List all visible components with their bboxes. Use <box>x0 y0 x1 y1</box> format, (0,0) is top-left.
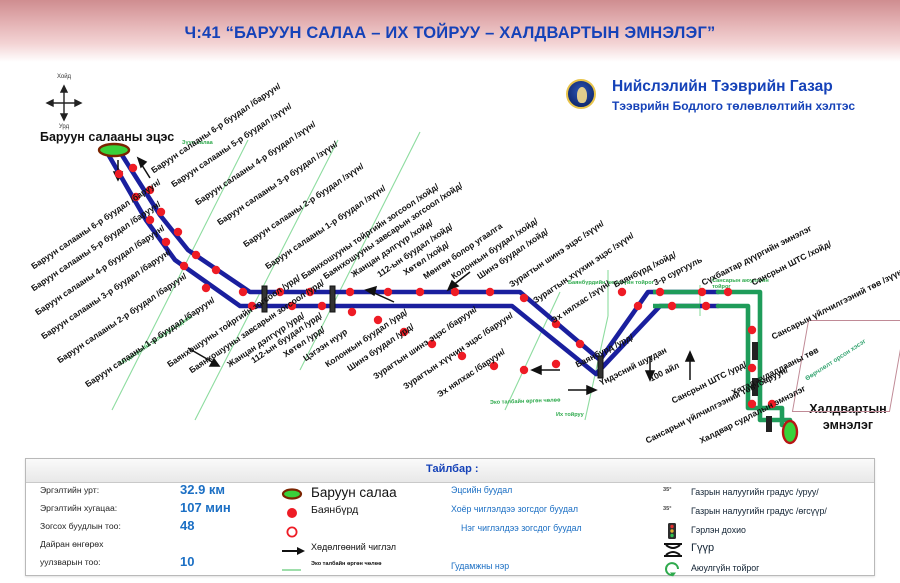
terminus-ellipse-icon <box>281 487 303 501</box>
stat-key: Эргэлтийн урт: <box>40 485 99 495</box>
arrow-icon <box>281 544 303 558</box>
stat-value: 48 <box>180 518 194 533</box>
legend-symbol-row <box>281 523 451 542</box>
legend-symbol-row: Хөдөлгөөний чиглэл <box>281 542 451 561</box>
stat-row: Эргэлтийн хугацаа: 107 мин <box>40 503 265 521</box>
legend-map-symbol-label: Гүүр <box>691 542 714 554</box>
stop-type-spacer <box>451 542 671 561</box>
stat-value: 107 мин <box>180 500 231 515</box>
stat-value: 10 <box>180 554 194 569</box>
terminus-end-label-line2: эмнэлэг <box>800 418 896 432</box>
legend-symbol-row: Баруун салаа <box>281 485 451 504</box>
legend-map-symbol-row: 35° Газрын налуугийн градус /өгсүүр/ <box>661 504 876 523</box>
legend-map-symbol-label: Аюулгүйн тойрог <box>691 563 759 573</box>
legend-map-symbol-row: Гэрлэн дохио <box>661 523 876 542</box>
legend-symbols-column: Баруун салаа Баянбүрд Хөдөлгөөний чиглэл <box>281 485 451 580</box>
legend-symbol-label: Эко талбайн өргөн чөлөө <box>311 561 382 567</box>
legend-map-symbol-row: Аюулгүйн тойрог <box>661 561 876 580</box>
stat-row: Дайран өнгөрөх <box>40 539 265 557</box>
legend-title: Тайлбар : <box>426 463 479 475</box>
legend-map-symbol-label: Гэрлэн дохио <box>691 525 746 535</box>
stat-key: Эргэлтийн хугацаа: <box>40 503 117 513</box>
legend-map-symbol-row: 35° Газрын налуугийн градус /уруу/ <box>661 485 876 504</box>
organization-block: Нийслэлийн Тээврийн Газар Тээврийн Бодло… <box>566 78 896 120</box>
compass-north-label: Хойд <box>40 74 88 80</box>
page-title: Ч:41 “БАРУУН САЛАА – ИХ ТОЙРУУ – ХАЛДВАР… <box>0 24 900 43</box>
filled-red-dot-icon <box>281 506 303 520</box>
route-map: Баруун салааны эцэс Халдвартын эмнэлэг Ө… <box>0 120 900 450</box>
slope-up-degree: 35° <box>663 506 671 512</box>
stat-key: уулзварын тоо: <box>40 557 100 567</box>
slope-up-icon: 35° <box>661 504 685 520</box>
traffic-light-icon <box>661 523 685 539</box>
legend-map-symbol-label: Газрын налуугийн градус /өгсүүр/ <box>691 506 827 516</box>
legend-symbol-label: Баруун салаа <box>311 485 397 500</box>
city-emblem-icon <box>566 79 596 109</box>
legend-panel: Тайлбар : Эргэлтийн урт: 32.9 км Эргэлти… <box>25 458 875 576</box>
legend-map-symbols-column: 35° Газрын налуугийн градус /уруу/ 35° Г… <box>661 485 876 580</box>
stat-key: Дайран өнгөрөх <box>40 539 103 549</box>
legend-symbol-row: Баянбүрд <box>281 504 451 523</box>
slope-down-degree: 35° <box>663 487 671 493</box>
legend-symbol-label: Баянбүрд <box>311 504 358 516</box>
legend-map-symbol-row: Гүүр <box>661 542 876 561</box>
org-name: Нийслэлийн Тээврийн Газар <box>612 78 833 96</box>
stat-key: Зогсох буудлын тоо: <box>40 521 121 531</box>
legend-stats-column: Эргэлтийн урт: 32.9 км Эргэлтийн хугацаа… <box>40 485 265 575</box>
stat-row: Эргэлтийн урт: 32.9 км <box>40 485 265 503</box>
stop-type-label: Гудамжны нэр <box>451 561 671 580</box>
change-area-box <box>792 320 900 412</box>
terminus-start-label: Баруун салааны эцэс <box>40 130 174 144</box>
stat-row: уулзварын тоо: 10 <box>40 557 265 575</box>
street-label-5: Их тойруу <box>556 412 584 418</box>
stop-type-label: Эцсийн буудал <box>451 485 671 504</box>
legend-symbol-label: Хөдөлгөөний чиглэл <box>311 542 396 552</box>
legend-map-symbol-label: Газрын налуугийн градус /уруу/ <box>691 487 819 497</box>
legend-header: Тайлбар : <box>26 459 874 483</box>
stop-type-label: Хоёр чиглэлдээ зогсдог буудал <box>451 504 671 523</box>
green-line-icon <box>281 563 303 577</box>
legend-symbol-row: Эко талбайн өргөн чөлөө <box>281 561 451 580</box>
roundabout-icon <box>661 561 685 577</box>
stop-type-label: Нэг чиглэлдээ зогсдог буудал <box>451 523 671 542</box>
route-map-page: Ч:41 “БАРУУН САЛАА – ИХ ТОЙРУУ – ХАЛДВАР… <box>0 0 900 583</box>
compass-arrows-icon <box>40 83 88 123</box>
stat-row: Зогсох буудлын тоо: 48 <box>40 521 265 539</box>
hollow-red-dot-icon <box>281 525 303 539</box>
legend-stop-types-column: Эцсийн буудал Хоёр чиглэлдээ зогсдог буу… <box>451 485 671 580</box>
org-department: Тээврийн Бодлого төлөвлөлтийн хэлтэс <box>612 99 855 113</box>
bridge-icon <box>661 542 685 558</box>
slope-down-icon: 35° <box>661 485 685 501</box>
stat-value: 32.9 км <box>180 482 225 497</box>
